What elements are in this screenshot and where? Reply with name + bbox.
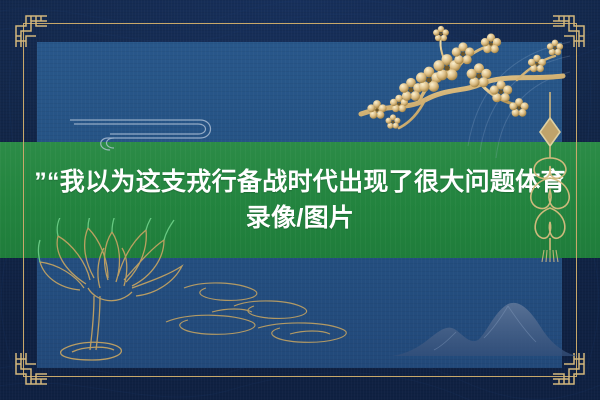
banner-canvas: ”“我以为这支戎行备战时代出现了很大问题体育 录像/图片 bbox=[0, 0, 600, 400]
green-text-band bbox=[0, 142, 600, 258]
band-texture bbox=[0, 142, 600, 258]
